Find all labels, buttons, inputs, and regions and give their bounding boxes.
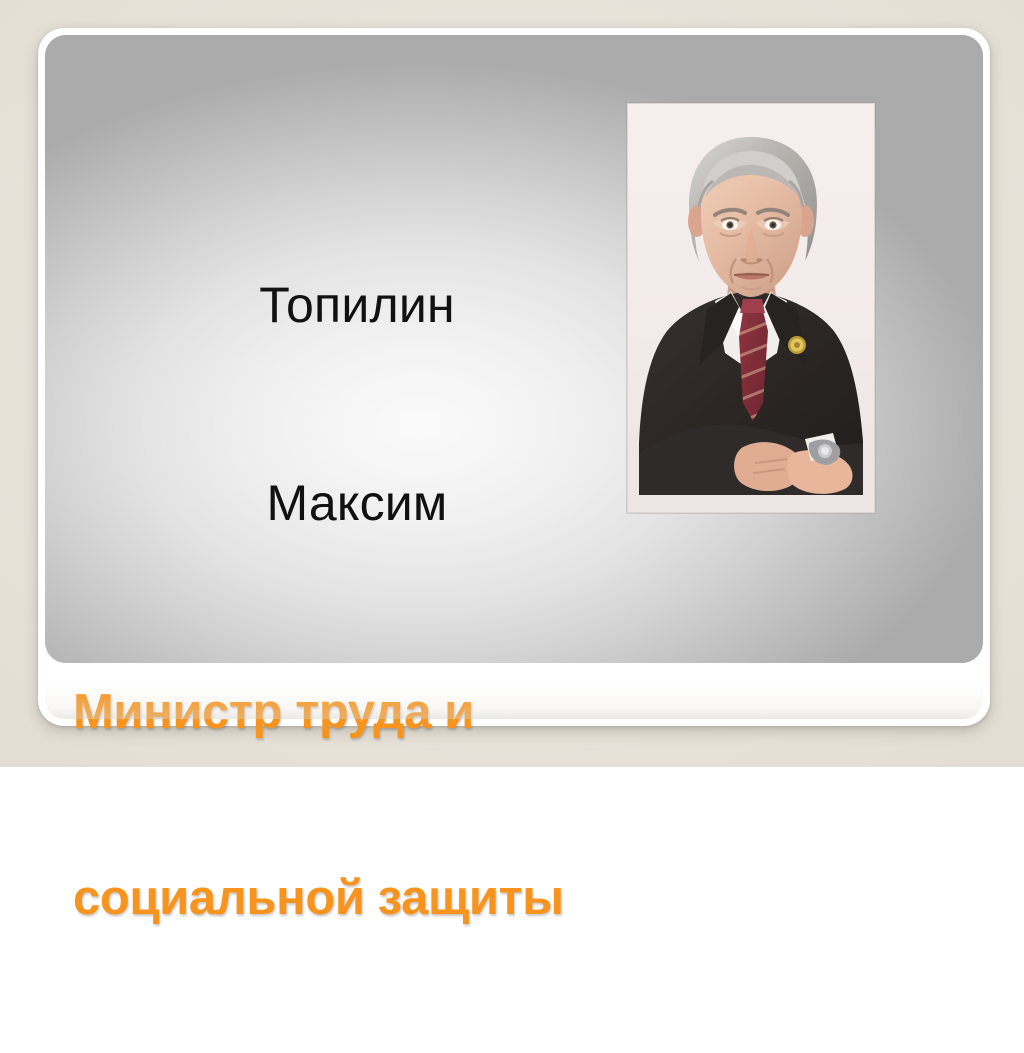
slide-canvas: Топилин Максим Анатольевич [0, 0, 1024, 767]
slide-title-overflow-line-1: Министр труда и [73, 681, 773, 743]
person-name-line-1: Топилин [97, 272, 617, 338]
slide-title: Министр труда и социальной защиты [73, 557, 773, 663]
person-name-line-2: Максим [97, 470, 617, 536]
portrait-photo [627, 103, 875, 513]
card-bottom-shade [45, 683, 983, 719]
slide-title-overflow-line-2: социальной защиты [73, 867, 773, 929]
slide-card: Топилин Максим Анатольевич [38, 28, 990, 726]
slide-content-panel: Топилин Максим Анатольевич [45, 35, 983, 663]
portrait-illustration [627, 103, 875, 513]
